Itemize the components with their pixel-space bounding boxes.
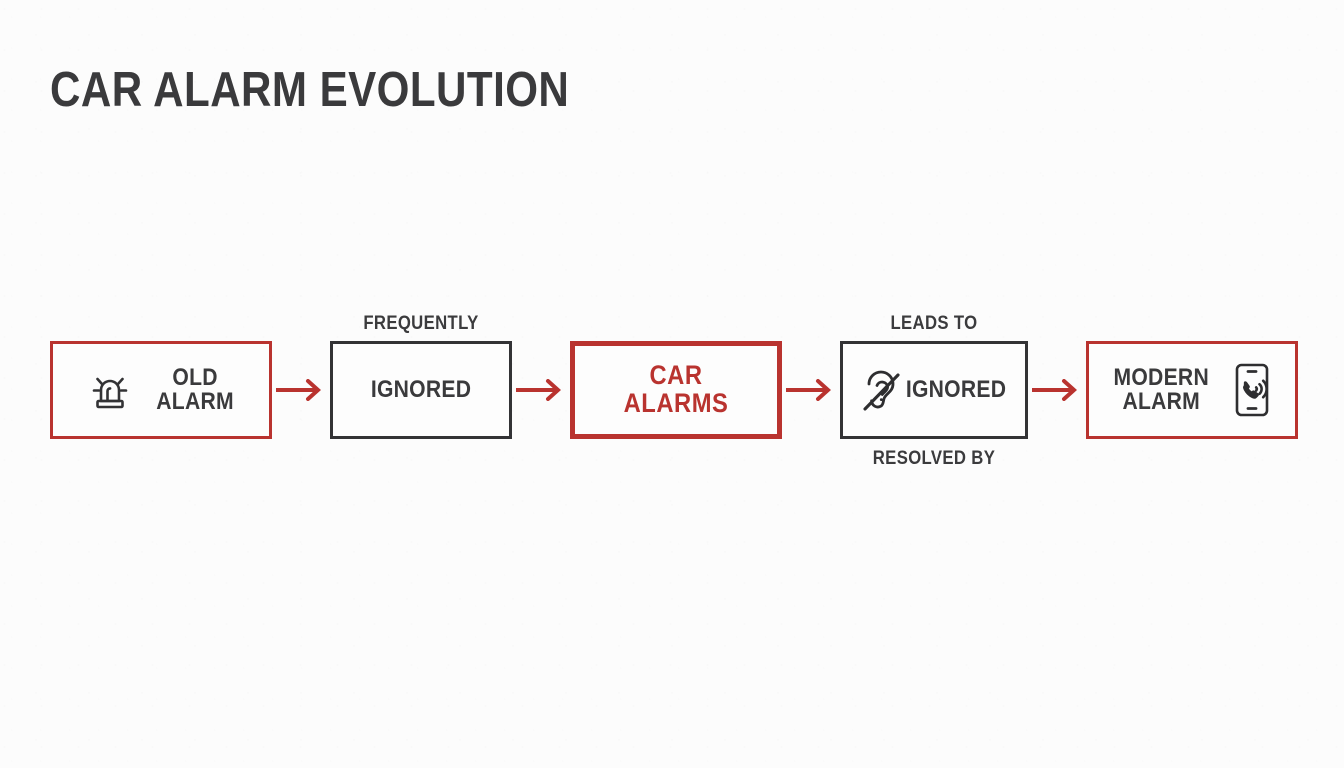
caption-frequently: FREQUENTLY (341, 313, 501, 335)
arrow-right-icon-1 (272, 375, 330, 405)
node-label-modern-alarm: MODERN ALARM (1113, 366, 1208, 415)
caption-resolved-by: RESOLVED BY (851, 448, 1016, 470)
flow-node-modern-alarm[interactable]: MODERN ALARM (1086, 300, 1298, 480)
node-label-car-alarms: CAR ALARMS (599, 362, 752, 417)
node-box-ignored-second[interactable]: IGNORED (840, 341, 1028, 439)
caption-leads-to: LEADS TO (851, 313, 1016, 335)
arrow-right-icon-4 (1028, 375, 1086, 405)
node-label-ignored-first: IGNORED (371, 378, 471, 402)
flow-node-ignored-first[interactable]: FREQUENTLY IGNORED (330, 300, 512, 480)
node-content-ignored-second: IGNORED (855, 361, 1013, 419)
node-box-modern-alarm[interactable]: MODERN ALARM (1086, 341, 1298, 439)
ear-hearing-off-icon (855, 361, 907, 419)
flow-node-car-alarms[interactable]: CAR ALARMS (570, 300, 782, 480)
arrow-right-icon-3 (782, 375, 840, 405)
slide-canvas: CAR ALARM EVOLUTION (0, 0, 1344, 768)
node-box-old-alarm[interactable]: OLD ALARM (50, 341, 272, 439)
page-title: CAR ALARM EVOLUTION (50, 66, 569, 115)
arrow-right-icon-2 (512, 375, 570, 405)
smartphone-ringing-icon (1229, 360, 1277, 420)
process-flow-diagram: OLD ALARM FREQUENTLY IGNORED (50, 300, 1294, 480)
node-label-ignored-second: IGNORED (906, 378, 1006, 402)
node-box-car-alarms[interactable]: CAR ALARMS (570, 341, 782, 439)
flow-node-ignored-second[interactable]: LEADS TO (840, 300, 1028, 480)
node-box-ignored-first[interactable]: IGNORED (330, 341, 512, 439)
siren-beacon-icon (83, 363, 137, 417)
node-label-old-alarm: OLD ALARM (156, 366, 234, 415)
flow-node-old-alarm[interactable]: OLD ALARM (50, 300, 272, 480)
